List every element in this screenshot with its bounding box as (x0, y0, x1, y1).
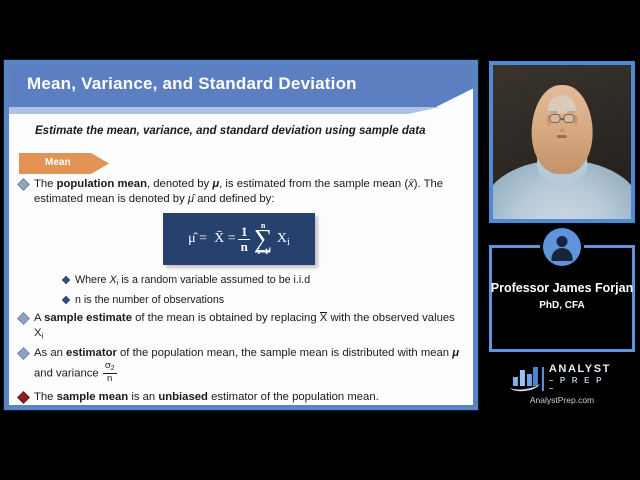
presenter-mouth (557, 135, 567, 138)
slide-subtitle: Estimate the mean, variance, and standar… (35, 125, 425, 137)
logo-word-bottom: – P R E P – (549, 377, 612, 393)
list-item-text: As an estimator of the population mean, … (34, 346, 461, 383)
logo-divider (542, 367, 544, 391)
list-item: Where Xi is a random variable assumed to… (61, 273, 461, 290)
glasses-lens-right (563, 114, 574, 123)
avatar (543, 228, 581, 266)
diamond-bullet-icon (62, 276, 70, 284)
person-avatar-icon (557, 236, 568, 247)
logo-word-top: ANALYST (549, 364, 612, 375)
list-item-text: The population mean, denoted by μ, is es… (34, 177, 461, 207)
brand-logo: ANALYST – P R E P – (512, 364, 612, 393)
diamond-bullet-icon (17, 348, 30, 361)
diamond-bullet-icon (62, 296, 70, 304)
presenter-brow-left (550, 111, 558, 113)
list-item-text: A sample estimate of the mean is obtaine… (34, 311, 461, 343)
list-item: A sample estimate of the mean is obtaine… (17, 311, 461, 343)
diamond-bullet-icon (17, 178, 30, 191)
list-item-text: The sample mean is an unbiased estimator… (34, 390, 461, 405)
presenter-video-frame[interactable] (489, 61, 635, 223)
presenter-credentials: PhD, CFA (489, 300, 635, 311)
presenter-brow-right (566, 111, 574, 113)
presenter-head (532, 85, 593, 174)
formula-expression: μ̂ = X̄ = 1n n ∑ i=1 Xi (163, 213, 315, 265)
slide-canvas: Mean, Variance, and Standard Deviation E… (9, 65, 473, 405)
presenter-video[interactable] (493, 65, 631, 219)
presenter-name: Professor James Forjan (489, 281, 635, 295)
logo-url: AnalystPrep.com (489, 395, 635, 405)
presenter-nose (560, 124, 564, 132)
section-banner-label: Mean (45, 157, 71, 168)
diamond-bullet-icon (17, 391, 30, 404)
diamond-bullet-icon (17, 312, 30, 325)
glasses-icon (550, 114, 574, 123)
page-title: Mean, Variance, and Standard Deviation (27, 74, 357, 94)
logo-wordmark: ANALYST – P R E P – (549, 364, 612, 393)
slide-panel: Mean, Variance, and Standard Deviation E… (4, 60, 478, 410)
header-underline (9, 107, 473, 114)
list-item: The sample mean is an unbiased estimator… (17, 390, 461, 405)
presenter-name-card: Professor James Forjan PhD, CFA (489, 245, 635, 352)
list-item: The population mean, denoted by μ, is es… (17, 177, 461, 207)
presenter-hair (548, 95, 576, 113)
list-item: n is the number of observations (61, 293, 461, 308)
section-banner-mean: Mean (19, 153, 109, 174)
formula-box: μ̂ = X̄ = 1n n ∑ i=1 Xi (163, 213, 315, 265)
list-item-text: Where Xi is a random variable assumed to… (75, 273, 461, 290)
brand-logo-block[interactable]: ANALYST – P R E P – AnalystPrep.com (489, 364, 635, 412)
glasses-bridge (561, 118, 564, 119)
slide-header-band: Mean, Variance, and Standard Deviation (9, 65, 473, 107)
list-item-text: n is the number of observations (75, 293, 461, 308)
list-item: As an estimator of the population mean, … (17, 346, 461, 383)
person-avatar-body (552, 248, 573, 261)
slide-body: The population mean, denoted by μ, is es… (9, 177, 473, 405)
glasses-lens-left (550, 114, 561, 123)
video-player-stage: Mean, Variance, and Standard Deviation E… (0, 0, 640, 480)
bar-chart-icon (512, 367, 537, 391)
